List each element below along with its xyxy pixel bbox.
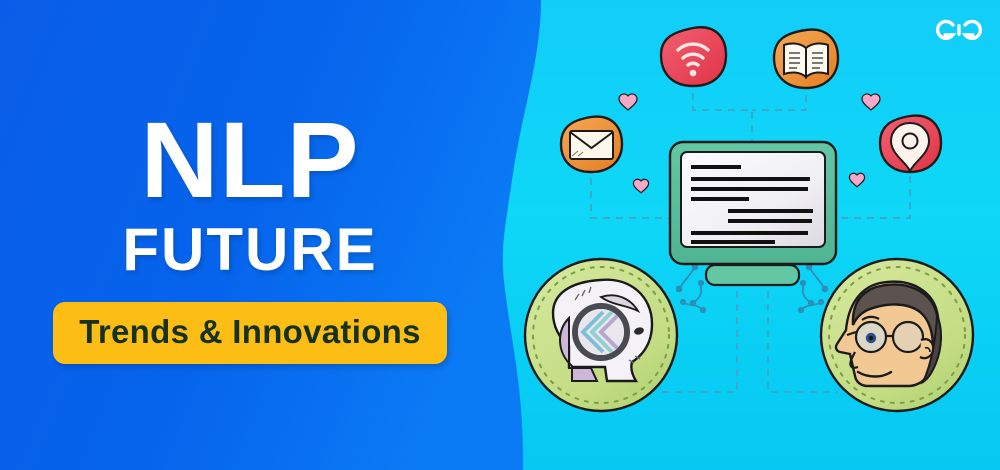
page-subtitle: FUTURE [122, 220, 377, 280]
book-icon [784, 43, 828, 77]
monitor-with-text [670, 142, 836, 285]
status-badge: Trends & Innovations [53, 302, 447, 364]
location-icon-bubble [880, 116, 941, 172]
human-head-avatar [821, 259, 973, 411]
page-title: NLP [141, 106, 360, 214]
wifi-icon-bubble [661, 27, 726, 86]
envelope-icon [570, 131, 613, 159]
headline-block: NLP FUTURE Trends & Innovations [0, 0, 500, 470]
badge-label: Trends & Innovations [79, 313, 421, 351]
nlp-future-banner: NLP FUTURE Trends & Innovations [0, 0, 1000, 470]
nlp-illustration [500, 0, 1000, 470]
book-icon-bubble [774, 30, 838, 88]
mail-icon-bubble [561, 117, 622, 172]
robot-head-avatar [525, 259, 677, 411]
